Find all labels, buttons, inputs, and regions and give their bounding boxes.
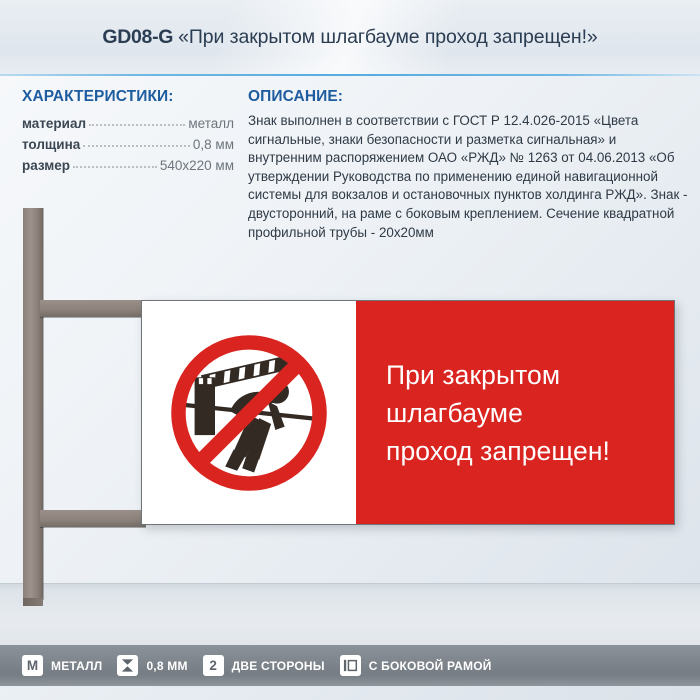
product-title: «При закрытом шлагбауме проход запрещен!…	[178, 26, 598, 49]
spec-leader	[83, 145, 190, 147]
spec-leader	[89, 124, 185, 126]
footer-item-thickness: 0,8 ММ	[117, 655, 187, 676]
two-sides-number: 2	[209, 659, 217, 673]
sign-pictogram-area	[142, 301, 356, 524]
footer-label-sides: ДВЕ СТОРОНЫ	[232, 659, 325, 673]
description-heading: ОПИСАНИЕ:	[248, 88, 688, 106]
description-panel: ОПИСАНИЕ: Знак выполнен в соответствии с…	[248, 88, 688, 242]
product-code: GD08-G	[102, 26, 173, 49]
metal-badge-icon: M	[22, 655, 43, 676]
metal-badge-letter: M	[27, 659, 38, 673]
pole-arm-top	[40, 300, 146, 317]
spec-value: металл	[188, 113, 234, 134]
footer-item-sides: 2 ДВЕ СТОРОНЫ	[203, 655, 325, 676]
thickness-icon	[117, 655, 138, 676]
spec-label: толщина	[22, 134, 80, 155]
pole-vertical-post	[23, 208, 43, 600]
characteristics-panel: ХАРАКТЕРИСТИКИ: материал металл толщина …	[22, 88, 234, 176]
footer-item-material: M МЕТАЛЛ	[22, 655, 102, 676]
side-frame-mount-icon	[343, 658, 358, 673]
footer-label-thickness: 0,8 ММ	[146, 659, 187, 673]
page-title: GD08-G «При закрытом шлагбауме проход за…	[0, 0, 700, 74]
footer-bar: M МЕТАЛЛ 0,8 ММ 2 ДВЕ СТОРОНЫ	[0, 645, 700, 686]
spec-leader	[73, 166, 157, 168]
spec-row: толщина 0,8 мм	[22, 134, 234, 155]
side-frame-icon	[340, 655, 361, 676]
footer-label-material: МЕТАЛЛ	[51, 659, 102, 673]
sign-text-area: При закрытом шлагбауме проход запрещен!	[356, 301, 674, 524]
product-card: GD08-G «При закрытом шлагбауме проход за…	[0, 0, 700, 700]
spec-value: 0,8 мм	[193, 134, 234, 155]
footer-label-frame: С БОКОВОЙ РАМОЙ	[369, 659, 492, 673]
no-passage-under-closed-barrier-icon	[164, 328, 334, 498]
pole-arm-bottom	[40, 510, 146, 527]
sign-text-line: При закрытом	[386, 356, 674, 394]
characteristics-heading: ХАРАКТЕРИСТИКИ:	[22, 88, 234, 106]
sign-panel: При закрытом шлагбауме проход запрещен!	[141, 300, 675, 525]
description-text: Знак выполнен в соответствии с ГОСТ Р 12…	[248, 112, 688, 242]
footer-item-frame: С БОКОВОЙ РАМОЙ	[340, 655, 492, 676]
spec-label: материал	[22, 113, 86, 134]
header-divider	[0, 74, 700, 76]
spec-row: материал металл	[22, 113, 234, 134]
thickness-arrows-icon	[120, 658, 135, 673]
two-sides-icon: 2	[203, 655, 224, 676]
sign-text-line: проход запрещен!	[386, 432, 674, 470]
sign-text-line: шлагбауме	[386, 394, 674, 432]
